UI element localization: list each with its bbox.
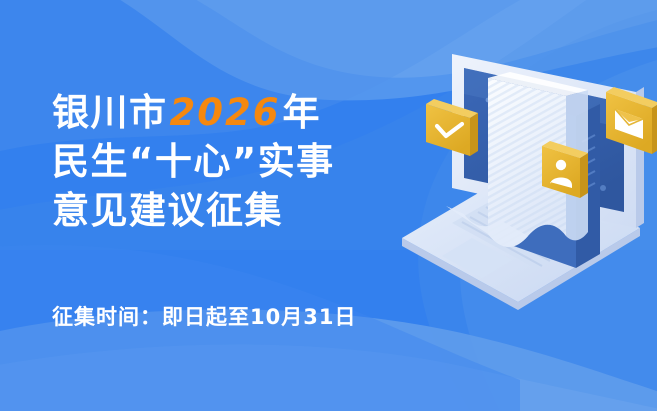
headline-city: 银川市 xyxy=(52,91,168,134)
collection-period-text: 征集时间：即日起至10月31日 xyxy=(52,302,356,332)
promo-banner: 银川市2026年 民生“十心”实事 意见建议征集 征集时间：即日起至10月31日 xyxy=(0,0,657,411)
headline-line-3: 意见建议征集 xyxy=(52,186,432,235)
headline-line-1: 银川市2026年 xyxy=(52,88,432,137)
headline-year-suffix: 年 xyxy=(282,91,321,134)
headline-block: 银川市2026年 民生“十心”实事 意见建议征集 xyxy=(52,88,432,235)
headline-year: 2026 xyxy=(168,91,283,134)
headline-line-2: 民生“十心”实事 xyxy=(52,137,432,186)
